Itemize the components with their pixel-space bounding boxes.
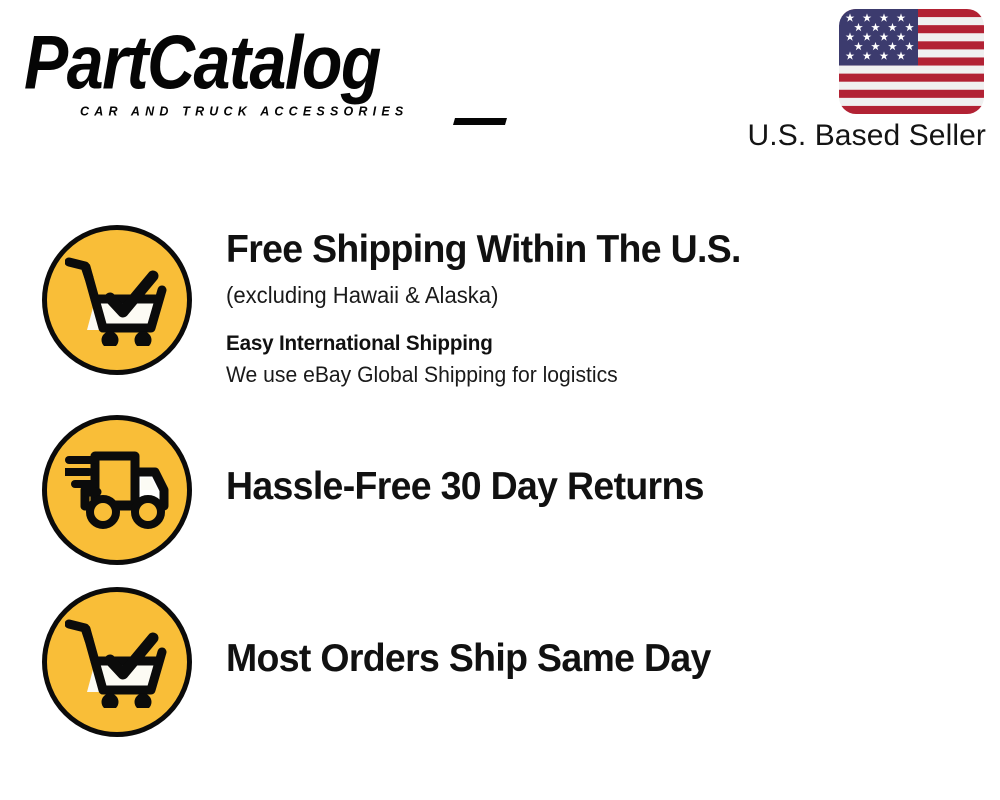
feature-row: Most Orders Ship Same Day [0,573,1000,745]
brand-wordmark: PartCatalog [24,22,489,106]
feature-subtitle: Easy International Shipping [226,329,969,358]
page-header: PartCatalog CAR AND TRUCK ACCESSORIES [0,0,1000,165]
feature-text-block: Most Orders Ship Same Day [226,573,1000,745]
feature-title: Most Orders Ship Same Day [226,636,711,682]
feature-row: Hassle-Free 30 Day Returns [0,401,1000,573]
delivery-truck-icon [65,450,169,530]
feature-title: Free Shipping Within The U.S. [226,227,969,273]
feature-icon-badge [42,587,192,737]
feature-text-block: Free Shipping Within The U.S. (excluding… [226,225,1000,390]
feature-icon-badge [42,225,192,375]
shopping-cart-check-icon [65,616,169,708]
feature-title: Hassle-Free 30 Day Returns [226,464,704,510]
feature-detail: We use eBay Global Shipping for logistic… [226,360,969,390]
feature-text-block: Hassle-Free 30 Day Returns [226,401,1000,573]
us-flag-badge [839,9,984,114]
feature-note: (excluding Hawaii & Alaska) [226,280,969,311]
brand-logo[interactable]: PartCatalog CAR AND TRUCK ACCESSORIES [24,22,494,118]
brand-tagline: CAR AND TRUCK ACCESSORIES [80,104,408,119]
feature-row: Free Shipping Within The U.S. (excluding… [0,225,1000,400]
logo-swoosh-rule [453,118,507,125]
shopping-cart-check-icon [65,254,169,346]
us-based-seller-label: U.S. Based Seller [748,119,986,153]
us-flag-icon [839,9,984,114]
feature-icon-badge [42,415,192,565]
